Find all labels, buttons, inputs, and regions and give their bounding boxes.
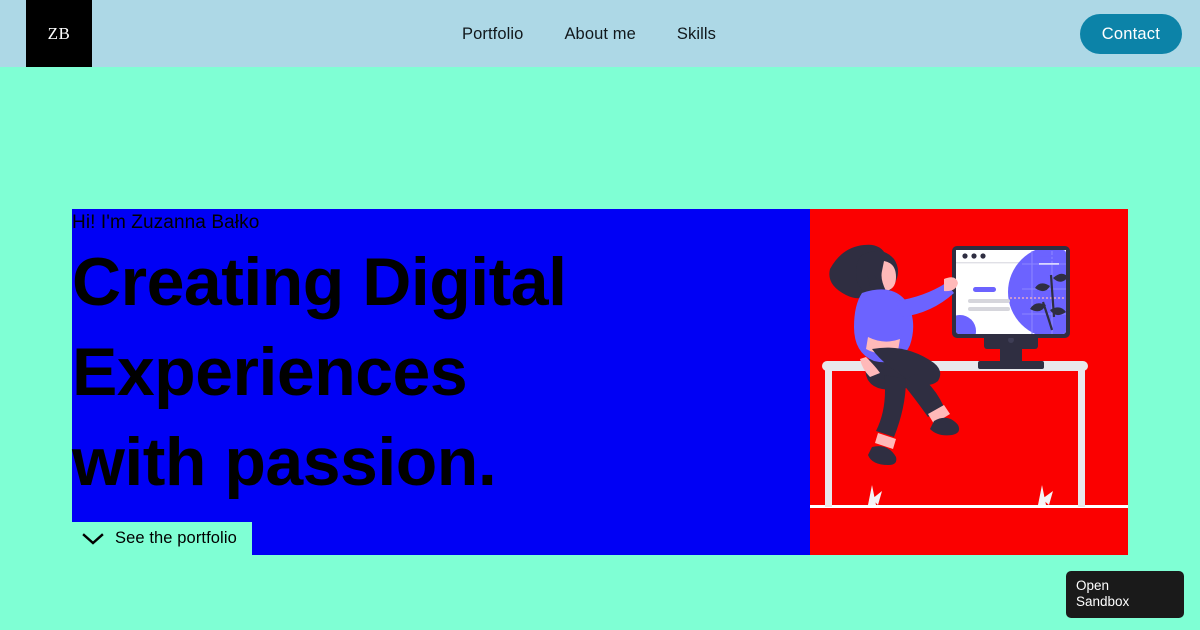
contact-button[interactable]: Contact bbox=[1080, 14, 1182, 54]
main-nav: Portfolio About me Skills bbox=[462, 24, 716, 44]
logo[interactable]: ZB bbox=[26, 0, 92, 67]
hero-title-line-1: Creating Digital bbox=[72, 237, 567, 327]
open-sandbox-badge[interactable]: Open Sandbox bbox=[1066, 571, 1184, 618]
see-the-portfolio-label: See the portfolio bbox=[115, 529, 237, 548]
logo-text: ZB bbox=[48, 24, 71, 44]
hero-greeting: Hi! I'm Zuzanna Bałko bbox=[72, 212, 259, 234]
hero-title-line-2: Experiences bbox=[72, 327, 567, 417]
hero-title-line-3: with passion. bbox=[72, 417, 567, 507]
hero-title: Creating Digital Experiences with passio… bbox=[72, 237, 567, 507]
hero-illustration-panel bbox=[810, 209, 1128, 555]
nav-item-portfolio[interactable]: Portfolio bbox=[462, 24, 523, 44]
nav-item-about-me[interactable]: About me bbox=[564, 24, 635, 44]
hero-section: Hi! I'm Zuzanna Bałko Creating Digital E… bbox=[72, 209, 1128, 555]
site-header: ZB Portfolio About me Skills Contact bbox=[0, 0, 1200, 67]
chevron-down-icon bbox=[82, 532, 104, 546]
workspace-illustration bbox=[810, 209, 1128, 555]
nav-item-skills[interactable]: Skills bbox=[677, 24, 716, 44]
open-sandbox-line-2: Sandbox bbox=[1076, 594, 1174, 610]
see-the-portfolio-button[interactable]: See the portfolio bbox=[72, 522, 252, 555]
open-sandbox-line-1: Open bbox=[1076, 578, 1174, 594]
